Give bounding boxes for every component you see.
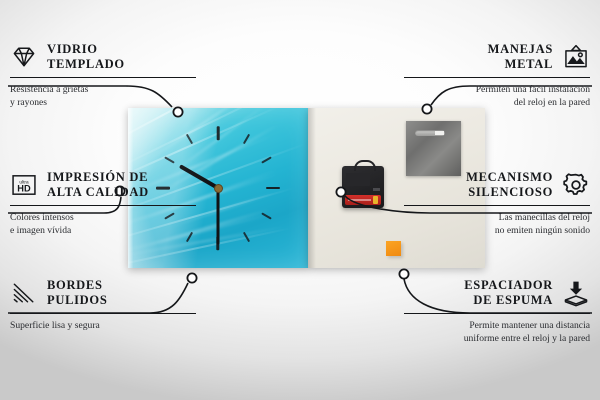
callout-title-line: PULIDOS (47, 293, 107, 308)
clock-tick (266, 187, 280, 190)
polished-edge-icon (10, 279, 38, 307)
callout-divider (404, 77, 590, 79)
picture-hanger-icon (562, 43, 590, 71)
callout-header: ultra HD IMPRESIÓN DE ALTA CALIDAD (10, 170, 196, 200)
mechanism-hook (354, 160, 376, 171)
callout-divider (10, 77, 196, 79)
ultra-hd-icon: ultra HD (10, 171, 38, 199)
callout-mecanismo-silencioso: MECANISMO SILENCIOSO Las manecillas del … (404, 170, 590, 237)
ultra-hd-icon-bottom-label: HD (17, 183, 31, 193)
clock-tick (164, 156, 175, 163)
callout-title: VIDRIO TEMPLADO (47, 42, 125, 72)
callout-description: Permiten una fácil instalación del reloj… (404, 83, 590, 109)
callout-title-line: BORDES (47, 278, 107, 293)
callout-title-line: DE ESPUMA (464, 293, 553, 308)
callout-description: Superficie lisa y segura (10, 319, 196, 332)
callout-title-line: TEMPLADO (47, 57, 125, 72)
callout-title: MECANISMO SILENCIOSO (466, 170, 553, 200)
callout-desc-line: Resistencia a grietas (10, 83, 196, 96)
foam-spacer (386, 241, 401, 256)
foam-spacer-icon (562, 279, 590, 307)
callout-desc-line: Superficie lisa y segura (10, 319, 196, 332)
clock-mechanism (342, 166, 384, 208)
callout-impresion-alta-calidad: ultra HD IMPRESIÓN DE ALTA CALIDAD Color… (10, 170, 196, 237)
callout-header: VIDRIO TEMPLADO (10, 42, 196, 72)
callout-header: ESPACIADOR DE ESPUMA (404, 278, 590, 308)
callout-desc-line: Permite mantener una distancia (404, 319, 590, 332)
callout-bordes-pulidos: BORDES PULIDOS Superficie lisa y segura (10, 278, 196, 332)
gear-icon (562, 171, 590, 199)
callout-header: BORDES PULIDOS (10, 278, 196, 308)
callout-title: IMPRESIÓN DE ALTA CALIDAD (47, 170, 149, 200)
clock-minute-hand (217, 188, 220, 244)
callout-manejas-metal: MANEJAS METAL Permiten una fácil instala… (404, 42, 590, 109)
callout-desc-line: y rayones (10, 96, 196, 109)
callout-divider (10, 313, 196, 315)
feather-streak (148, 108, 257, 161)
battery-label-strip (348, 199, 371, 201)
callout-description: Permite mantener una distancia uniforme … (404, 319, 590, 345)
callout-desc-line: Colores intensos (10, 211, 196, 224)
callout-divider (404, 313, 590, 315)
callout-description: Colores intensos e imagen vívida (10, 211, 196, 237)
hanger-keyhole-slot (415, 130, 445, 136)
callout-title-line: ESPACIADOR (464, 278, 553, 293)
callout-description: Las manecillas del reloj no emiten ningú… (404, 211, 590, 237)
callout-title: BORDES PULIDOS (47, 278, 107, 308)
clock-tick (217, 126, 220, 140)
callout-title: MANEJAS METAL (488, 42, 553, 72)
callout-divider (404, 205, 590, 207)
callout-desc-line: e imagen vívida (10, 224, 196, 237)
callout-title-line: METAL (488, 57, 553, 72)
clock-center-cap (214, 184, 223, 193)
callout-desc-line: Permiten una fácil instalación (404, 83, 590, 96)
callout-title: ESPACIADOR DE ESPUMA (464, 278, 553, 308)
battery (345, 195, 381, 205)
metal-hanger-plate (406, 121, 461, 176)
callout-desc-line: Las manecillas del reloj (404, 211, 590, 224)
diamond-icon (10, 43, 38, 71)
clock-tick (186, 134, 193, 145)
callout-desc-line: del reloj en la pared (404, 96, 590, 109)
callout-title-line: VIDRIO (47, 42, 125, 57)
mechanism-body-detail (346, 173, 370, 186)
callout-desc-line: uniforme entre el reloj y la pared (404, 332, 590, 345)
callout-title-line: MECANISMO (466, 170, 553, 185)
callout-espaciador-espuma: ESPACIADOR DE ESPUMA Permite mantener un… (404, 278, 590, 345)
callout-title-line: IMPRESIÓN DE (47, 170, 149, 185)
callout-desc-line: no emiten ningún sonido (404, 224, 590, 237)
callout-vidrio-templado: VIDRIO TEMPLADO Resistencia a grietas y … (10, 42, 196, 109)
callout-divider (10, 205, 196, 207)
callout-header: MECANISMO SILENCIOSO (404, 170, 590, 200)
callout-title-line: MANEJAS (488, 42, 553, 57)
callout-title-line: ALTA CALIDAD (47, 185, 149, 200)
mechanism-side-detail (373, 188, 380, 191)
callout-title-line: SILENCIOSO (466, 185, 553, 200)
callout-header: MANEJAS METAL (404, 42, 590, 72)
callout-description: Resistencia a grietas y rayones (10, 83, 196, 109)
back-panel-inner-shadow (308, 108, 316, 268)
infographic-canvas: VIDRIO TEMPLADO Resistencia a grietas y … (0, 0, 600, 400)
